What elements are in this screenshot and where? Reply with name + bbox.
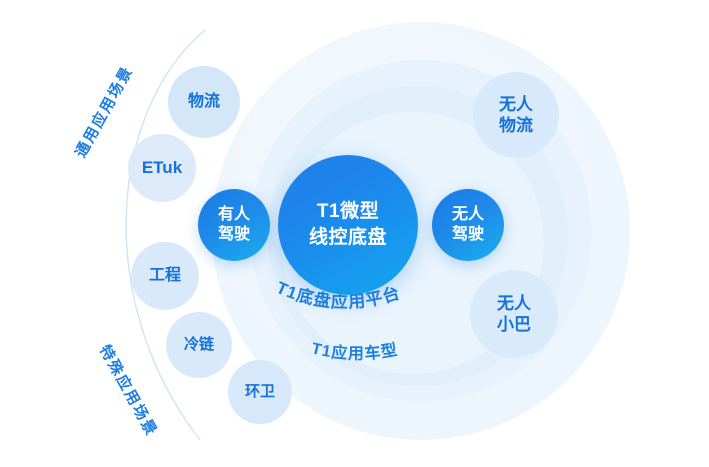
bubble-unmanned-logistics[interactable]: 无人 物流 (473, 72, 559, 158)
bubble-engineering-line1: 工程 (149, 266, 181, 286)
bubble-engineering[interactable]: 工程 (131, 242, 199, 310)
bubble-cold-chain[interactable]: 冷链 (166, 312, 232, 378)
mode-bubble-unmanned[interactable]: 无人 驾驶 (432, 189, 504, 261)
bubble-unmanned-minibus-line2: 小巴 (497, 314, 531, 335)
mode-manned-line2: 驾驶 (218, 225, 250, 245)
bubble-unmanned-minibus[interactable]: 无人 小巴 (470, 270, 558, 358)
side-label-general-scenarios: 通用应用场景 (70, 62, 138, 161)
bubble-sanitation[interactable]: 环卫 (228, 360, 292, 424)
bubble-etuk[interactable]: ETuk (128, 134, 196, 202)
bubble-logistics-line1: 物流 (188, 92, 220, 112)
bubble-unmanned-logistics-line1: 无人 (499, 94, 533, 115)
central-hub-chassis[interactable]: T1微型 线控底盘 (278, 155, 418, 295)
side-label-special-scenarios: 特殊应用场景 (95, 341, 163, 440)
bubble-etuk-line1: ETuk (142, 157, 182, 178)
diagram-canvas: T1底盘应用平台 T1应用车型 通用应用场景 特殊应用场景 物流 ETuk 工程… (0, 0, 709, 467)
bubble-unmanned-logistics-line2: 物流 (499, 115, 533, 136)
hub-line2: 线控底盘 (309, 225, 387, 251)
mode-bubble-manned[interactable]: 有人 驾驶 (198, 189, 270, 261)
mode-unmanned-line1: 无人 (452, 205, 484, 225)
mode-manned-line1: 有人 (218, 205, 250, 225)
bubble-sanitation-line1: 环卫 (245, 383, 275, 402)
hub-line1: T1微型 (317, 199, 379, 225)
bubble-cold-chain-line1: 冷链 (184, 336, 214, 355)
bubble-logistics[interactable]: 物流 (168, 66, 240, 138)
bubble-unmanned-minibus-line1: 无人 (497, 293, 531, 314)
mode-unmanned-line2: 驾驶 (452, 225, 484, 245)
